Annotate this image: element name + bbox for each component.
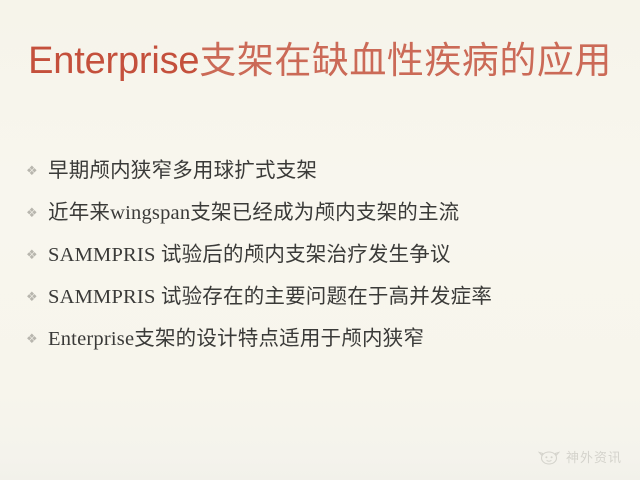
list-item-label: SAMMPRIS 试验后的颅内支架治疗发生争议 [48, 242, 451, 269]
list-item-label: SAMMPRIS 试验存在的主要问题在于高并发症率 [48, 284, 492, 311]
list-item: ❖ SAMMPRIS 试验后的颅内支架治疗发生争议 [26, 242, 616, 284]
list-item-label: 近年来wingspan支架已经成为颅内支架的主流 [48, 200, 459, 227]
list-item-label: 早期颅内狭窄多用球扩式支架 [48, 158, 317, 185]
diamond-bullet-icon: ❖ [26, 200, 48, 227]
list-item-label: Enterprise支架的设计特点适用于颅内狭窄 [48, 326, 424, 353]
watermark: 神外资讯 [538, 450, 622, 466]
list-item: ❖ Enterprise支架的设计特点适用于颅内狭窄 [26, 326, 616, 368]
diamond-bullet-icon: ❖ [26, 158, 48, 185]
bullet-list: ❖ 早期颅内狭窄多用球扩式支架 ❖ 近年来wingspan支架已经成为颅内支架的… [26, 158, 616, 368]
diamond-bullet-icon: ❖ [26, 284, 48, 311]
page-title-cjk: 支架在缺血性疾病的应用 [199, 41, 612, 82]
list-item: ❖ 早期颅内狭窄多用球扩式支架 [26, 158, 616, 200]
diamond-bullet-icon: ❖ [26, 242, 48, 269]
page-title: Enterprise支架在缺血性疾病的应用 [0, 40, 640, 83]
presentation-slide: Enterprise支架在缺血性疾病的应用 ❖ 早期颅内狭窄多用球扩式支架 ❖ … [0, 0, 640, 480]
diamond-bullet-icon: ❖ [26, 326, 48, 353]
page-title-latin: Enterprise [28, 40, 199, 82]
watermark-label: 神外资讯 [566, 450, 622, 466]
list-item: ❖ 近年来wingspan支架已经成为颅内支架的主流 [26, 200, 616, 242]
list-item: ❖ SAMMPRIS 试验存在的主要问题在于高并发症率 [26, 284, 616, 326]
brand-logo-icon [538, 450, 560, 466]
